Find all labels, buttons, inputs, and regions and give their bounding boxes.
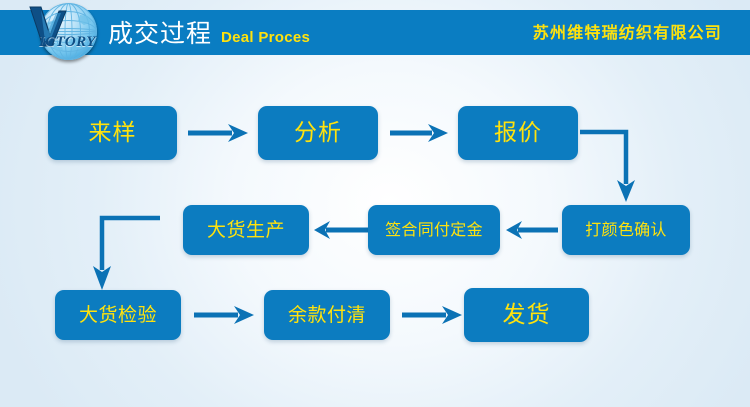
flow-node-label: 分析 [294,122,342,145]
flow-node-quotation[interactable]: 报价 [458,106,578,160]
connector-sample-to-analysis [188,122,250,144]
connector-balance-payment-to-shipment [402,304,464,326]
page-title-cn: 成交过程 [108,14,212,50]
connector-quotation-to-color-confirm [580,126,650,204]
flow-node-label: 打颜色确认 [585,222,667,238]
connector-color-confirm-to-contract [506,219,560,241]
connector-bulk-production-to-inspection [88,212,168,294]
page-title: 成交过程 Deal Proces [108,14,310,52]
connector-analysis-to-quotation [390,122,450,144]
connector-inspection-to-balance-payment [194,304,256,326]
logo-wordmark: ICTORY [39,34,96,51]
flow-node-label: 余款付清 [288,306,366,325]
flow-node-label: 发货 [503,304,551,327]
flow-node-sample[interactable]: 来样 [48,106,177,160]
deal-process-diagram: ICTORY 成交过程 Deal Proces 苏州维特瑞纺织有限公司 来样 分… [0,0,750,407]
flow-node-label: 签合同付定金 [385,222,483,238]
company-logo: ICTORY [26,1,106,63]
flow-node-shipment[interactable]: 发货 [464,288,589,342]
flow-node-bulk-production[interactable]: 大货生产 [183,205,309,255]
company-name: 苏州维特瑞纺织有限公司 [533,19,722,43]
flow-node-color-confirm[interactable]: 打颜色确认 [562,205,690,255]
flow-node-bulk-inspection[interactable]: 大货检验 [55,290,181,340]
flow-node-label: 来样 [89,122,137,145]
flow-node-balance-payment[interactable]: 余款付清 [264,290,390,340]
connector-contract-to-bulk-production [314,219,370,241]
flow-node-label: 报价 [494,122,542,145]
flow-node-analysis[interactable]: 分析 [258,106,378,160]
flow-node-contract-deposit[interactable]: 签合同付定金 [368,205,500,255]
flow-node-label: 大货检验 [79,306,157,325]
page-title-en: Deal Proces [221,29,310,46]
flow-node-label: 大货生产 [207,221,285,240]
